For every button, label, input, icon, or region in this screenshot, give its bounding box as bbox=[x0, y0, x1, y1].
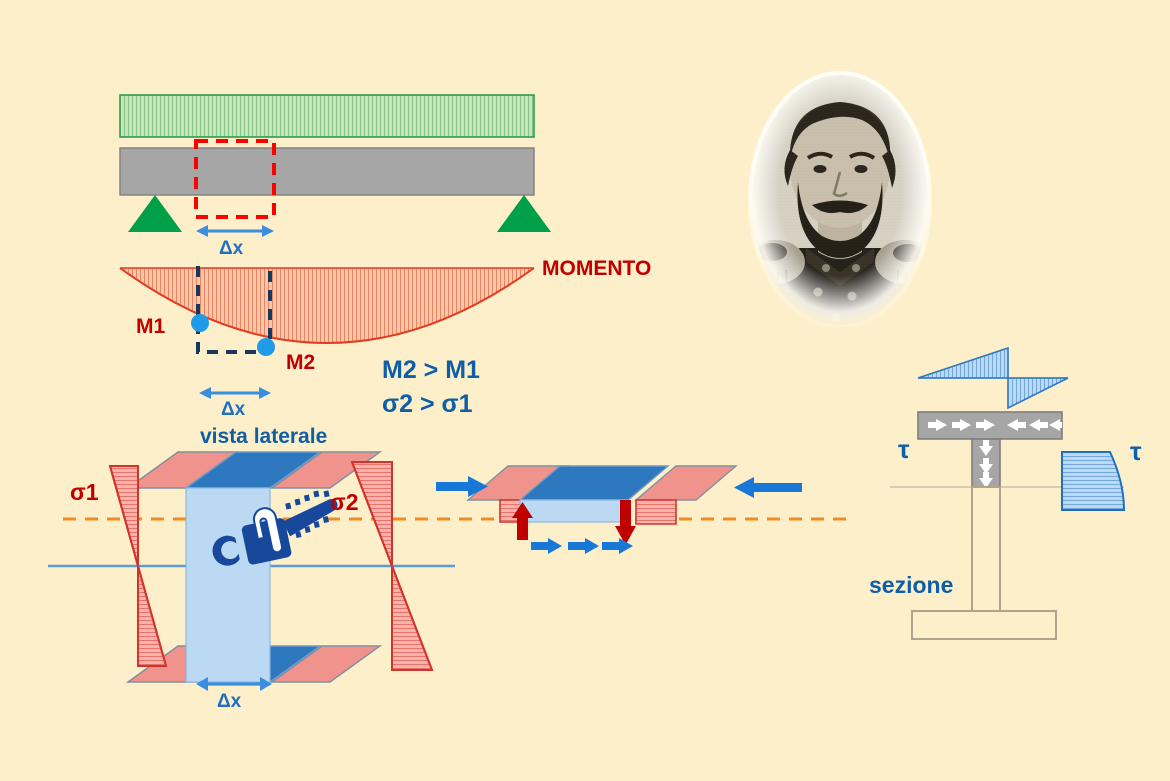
marker-m1 bbox=[191, 314, 209, 332]
diagram-canvas: MOMENTO M1 M2 Δx Δx Δx M2 > M1 σ2 > σ1 v… bbox=[0, 0, 1170, 781]
support-right bbox=[497, 195, 551, 232]
arrow-push-left bbox=[734, 477, 802, 498]
m2-label: M2 bbox=[286, 352, 315, 373]
dx-label-moment: Δx bbox=[221, 400, 245, 419]
dx-arrow-beam bbox=[196, 225, 274, 237]
tau-profile bbox=[1062, 452, 1124, 510]
portrait-zhuravskii bbox=[745, 71, 935, 329]
tau-right-label: τ bbox=[1130, 438, 1142, 464]
sigma1-label: σ1 bbox=[70, 481, 99, 504]
sezione-label: sezione bbox=[869, 574, 953, 597]
tau-left-label: τ bbox=[898, 436, 910, 462]
green-load-beam bbox=[120, 95, 534, 137]
dx-label-beam: Δx bbox=[219, 239, 243, 258]
equilibrium-block bbox=[468, 466, 736, 524]
m1-label: M1 bbox=[136, 316, 165, 337]
moment-diagram bbox=[120, 268, 534, 343]
momento-label: MOMENTO bbox=[542, 258, 651, 279]
inequality-moment: M2 > M1 bbox=[382, 358, 480, 383]
diagram-svg bbox=[0, 0, 1170, 781]
marker-m2 bbox=[257, 338, 275, 356]
support-left bbox=[128, 195, 182, 232]
vista-laterale-label: vista laterale bbox=[200, 426, 327, 447]
web-flow-arrows bbox=[979, 440, 993, 488]
dx-arrow-moment bbox=[199, 387, 271, 399]
dx-label-block: Δx bbox=[217, 692, 241, 711]
shear-flow-arrows bbox=[531, 538, 633, 554]
shear-force-diagram bbox=[918, 348, 1068, 408]
inequality-sigma: σ2 > σ1 bbox=[382, 392, 473, 417]
gray-beam bbox=[120, 148, 534, 195]
sigma2-label: σ2 bbox=[330, 491, 359, 514]
tee-section-outline bbox=[912, 487, 1056, 639]
